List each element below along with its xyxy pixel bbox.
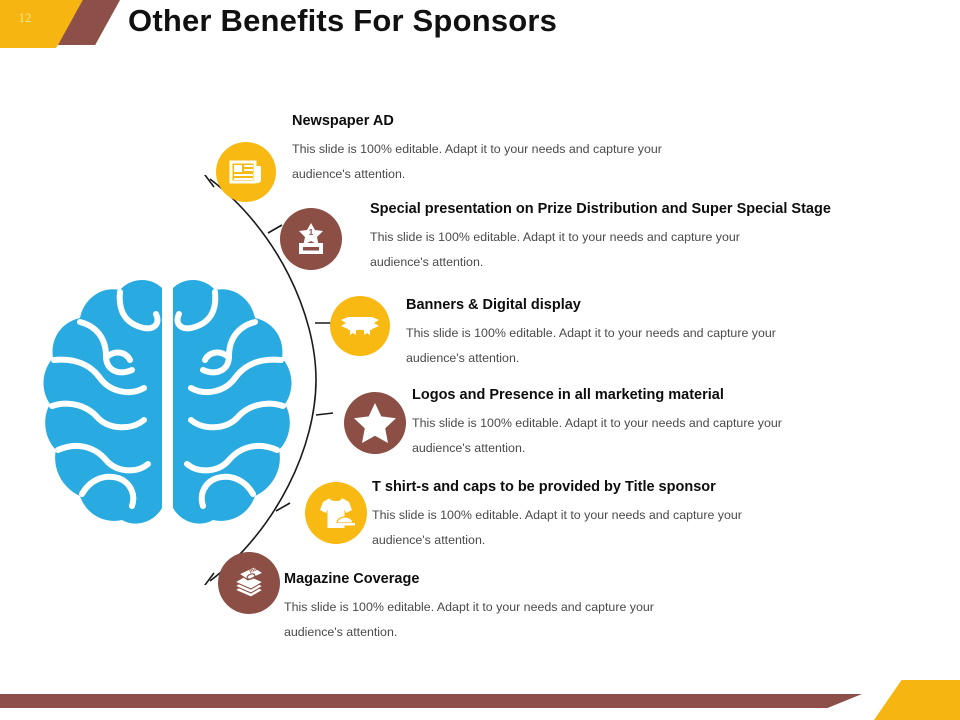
item-title: Special presentation on Prize Distributi… xyxy=(370,202,890,218)
item-body: This slide is 100% editable. Adapt it to… xyxy=(370,225,790,276)
star-icon xyxy=(344,392,406,454)
page-title: Other Benefits For Sponsors xyxy=(128,3,557,39)
tshirt-cap-icon xyxy=(305,482,367,544)
magazine-stack-icon: mag xyxy=(218,552,280,614)
svg-text:1: 1 xyxy=(309,228,314,237)
slide-canvas: 12 Other Benefits For Sponsors xyxy=(0,0,960,720)
item-title: Newspaper AD xyxy=(292,114,722,130)
slide-number: 12 xyxy=(8,10,42,26)
footer-bar xyxy=(0,694,862,708)
podium-star-icon: 1 xyxy=(280,208,342,270)
item-body: This slide is 100% editable. Adapt it to… xyxy=(406,321,826,372)
newspaper-icon xyxy=(216,142,276,202)
footer-yellow-corner xyxy=(874,680,960,720)
item-title: Magazine Coverage xyxy=(284,572,704,588)
banner-ribbon-icon xyxy=(330,296,390,356)
item-title: T shirt-s and caps to be provided by Tit… xyxy=(372,480,802,496)
item-title: Logos and Presence in all marketing mate… xyxy=(412,388,852,404)
brain-illustration xyxy=(40,278,295,528)
item-title: Banners & Digital display xyxy=(406,298,846,314)
item-body: This slide is 100% editable. Adapt it to… xyxy=(372,503,792,554)
item-body: This slide is 100% editable. Adapt it to… xyxy=(284,595,704,646)
item-body: This slide is 100% editable. Adapt it to… xyxy=(292,137,712,188)
item-body: This slide is 100% editable. Adapt it to… xyxy=(412,411,832,462)
